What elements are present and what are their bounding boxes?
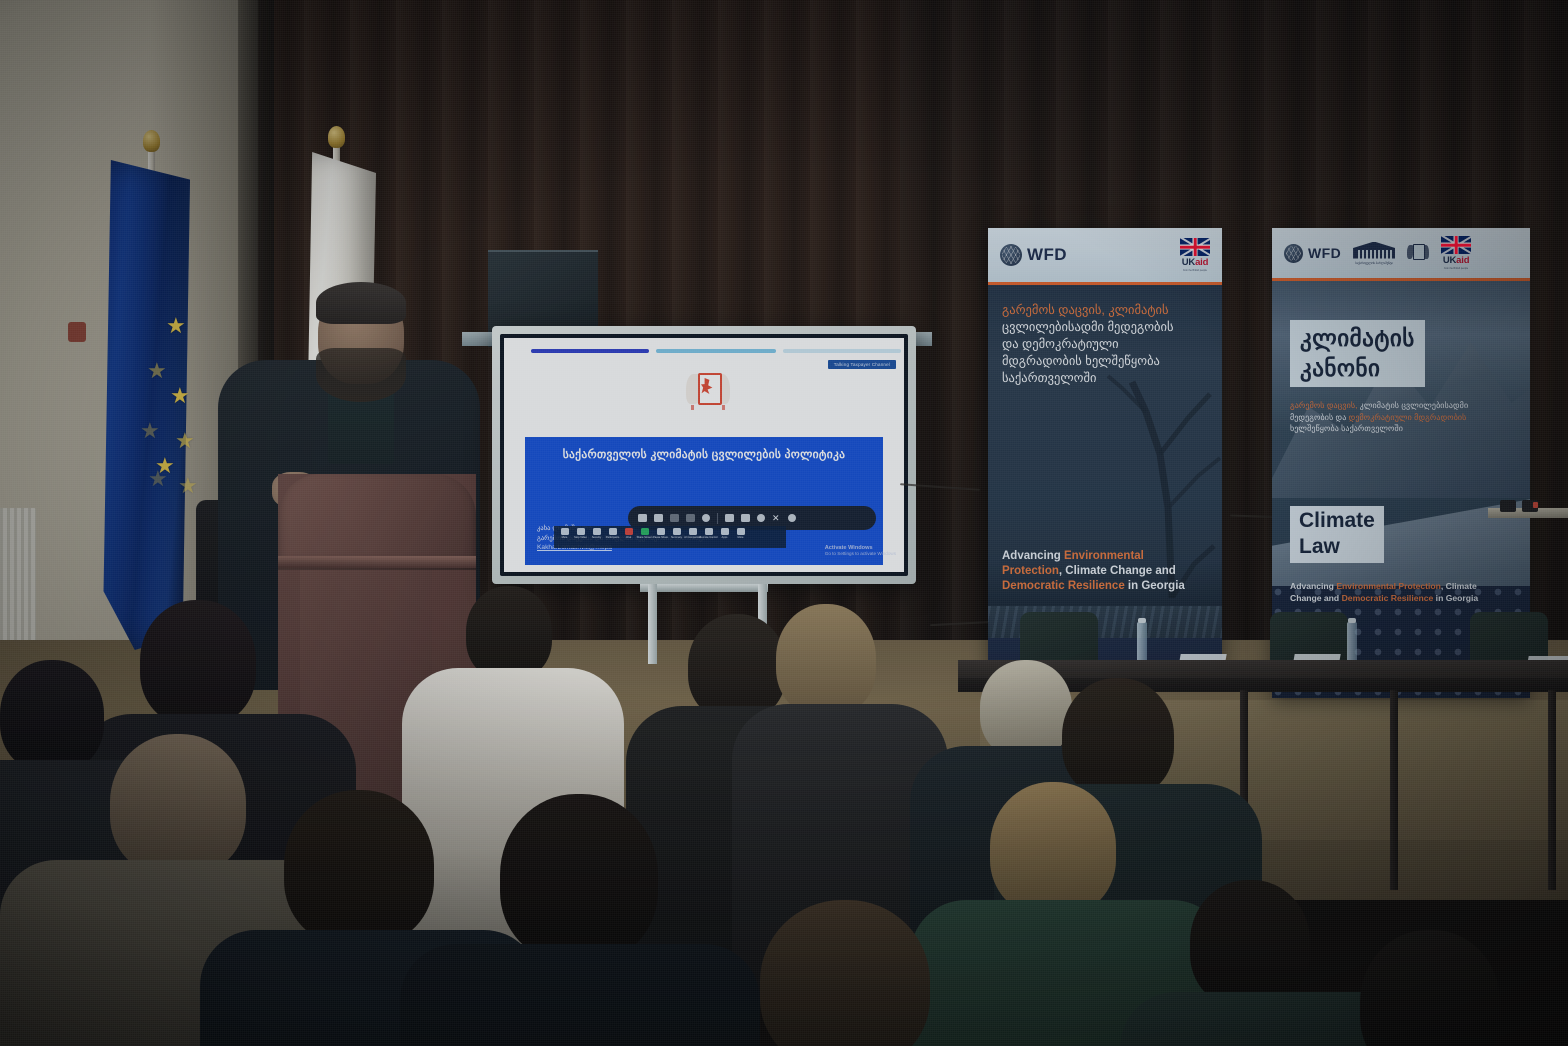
banner-logo-strip: WFD საქართველოს პარლამენტი UKaid from th… xyxy=(1272,228,1530,278)
audience-head xyxy=(1360,930,1500,1046)
conference-photo: ★ ★ ★ ★ ★ ★ ★ ★ Talking Taxpayer Channel xyxy=(0,0,1568,1046)
audience-head xyxy=(1190,880,1310,1008)
display-stand-leg xyxy=(648,584,657,664)
wfd-globe-icon xyxy=(1284,244,1303,263)
pause-share-button[interactable]: Pause Share xyxy=(655,528,666,542)
more-icon[interactable] xyxy=(788,514,796,522)
water-bottle xyxy=(1347,622,1357,664)
ukaid-logo-text: UKaid xyxy=(1443,255,1469,266)
audience-head xyxy=(110,734,246,876)
audience-head xyxy=(500,794,658,962)
share-screen-icon[interactable] xyxy=(638,514,647,522)
ai-companion-button[interactable]: AI Companion xyxy=(687,528,698,542)
banner-headline-english: Advancing Environmental Protection, Clim… xyxy=(1002,549,1202,594)
close-icon[interactable]: ✕ xyxy=(772,514,781,522)
progress-bar-step-1 xyxy=(531,349,649,353)
flag-finial-georgia xyxy=(328,126,345,148)
ukaid-logo: UKaid from the British people xyxy=(1180,238,1210,272)
banner-subtitle-english: Advancing Environmental Protection, Clim… xyxy=(1290,580,1510,604)
ukaid-subtext: from the British people xyxy=(1183,269,1207,272)
slide-title: საქართველოს კლიმატის ცვლილების პოლიტიკა xyxy=(525,447,883,461)
equipment-indicator-light xyxy=(1533,502,1538,508)
wfd-logo: WFD xyxy=(1284,244,1341,263)
eu-star: ★ xyxy=(155,455,175,477)
wfd-logo-text: WFD xyxy=(1308,245,1341,261)
audience-head xyxy=(466,586,552,680)
remote-control-button[interactable]: Remote Control xyxy=(703,528,714,542)
presentation-slide: Talking Taxpayer Channel საქართველოს კლი… xyxy=(504,338,904,572)
eu-star: ★ xyxy=(140,420,160,442)
union-jack-icon xyxy=(1180,238,1210,256)
ukaid-subtext: from the British people xyxy=(1444,267,1468,270)
undo-icon[interactable] xyxy=(670,514,679,522)
parliament-of-georgia-logo: საქართველოს პარლამენტი xyxy=(1353,242,1395,265)
meeting-controls-bar[interactable]: Mute Stop Video Security Participants Ch… xyxy=(554,526,786,548)
redo-icon[interactable] xyxy=(686,514,695,522)
banner-headline-georgian: გარემოს დაცვის, კლიმატის ცვლილებისადმი მ… xyxy=(1002,302,1208,387)
apps-button[interactable]: Apps xyxy=(719,528,730,542)
progress-bar-step-2 xyxy=(656,349,776,353)
eu-star: ★ xyxy=(178,475,198,497)
wfd-logo: WFD xyxy=(1000,244,1067,266)
banner-title-english: Climate Law xyxy=(1290,506,1384,563)
title-line-1: Climate xyxy=(1299,508,1375,534)
audience-head xyxy=(980,660,1072,758)
banner-title-georgian: კლიმატის კანონი xyxy=(1290,320,1425,387)
participants-button[interactable]: Participants xyxy=(607,528,618,542)
whiteboard-icon[interactable] xyxy=(654,514,663,522)
side-table-equipment xyxy=(1500,500,1516,512)
pointer-icon[interactable] xyxy=(702,514,710,522)
summary-button[interactable]: Summary xyxy=(671,528,682,542)
speaker-hair xyxy=(316,282,406,324)
coa-shield xyxy=(698,373,722,405)
ukaid-logo: UKaid from the British people xyxy=(1441,236,1471,270)
headline-line: საქართველოში xyxy=(1002,370,1208,387)
windows-activation-watermark: Activate Windows Go to Settings to activ… xyxy=(825,545,896,556)
headline-line: მდგრადობის ხელშეწყობა xyxy=(1002,353,1208,370)
radiator xyxy=(0,508,36,658)
wfd-logo-text: WFD xyxy=(1027,245,1067,265)
wfd-globe-icon xyxy=(1000,244,1022,266)
banner-logo-strip: WFD UKaid from the British people xyxy=(988,228,1222,282)
eu-star: ★ xyxy=(175,430,195,452)
settings-icon[interactable] xyxy=(757,514,765,522)
eu-star: ★ xyxy=(147,360,167,382)
headline-line: გარემოს დაცვის, კლიმატის xyxy=(1002,302,1208,319)
banner-wfd-project: WFD UKaid from the British people გარემო… xyxy=(988,228,1222,672)
audience-head xyxy=(1062,678,1174,798)
coa-foot xyxy=(691,405,694,410)
eu-star: ★ xyxy=(170,385,190,407)
more-button[interactable]: More xyxy=(735,528,746,542)
panel-table-leg xyxy=(1390,690,1398,890)
panel-table-leg xyxy=(1548,690,1556,890)
georgia-coat-of-arms-icon xyxy=(686,368,730,410)
slide-corner-badge: Talking Taxpayer Channel xyxy=(828,360,896,369)
title-line-1: კლიმატის xyxy=(1300,323,1415,353)
banner-accent-rule xyxy=(1272,278,1530,281)
activation-subtitle: Go to Settings to activate Windows xyxy=(825,551,896,556)
title-line-2: კანონი xyxy=(1300,353,1415,383)
new-page-icon[interactable] xyxy=(725,514,734,522)
toolbar-separator xyxy=(717,513,718,524)
water-bottle-cap xyxy=(1348,618,1356,623)
fire-alarm xyxy=(68,322,86,342)
parliament-caption: საქართველოს პარლამენტი xyxy=(1355,261,1393,265)
audience-head xyxy=(760,900,930,1046)
georgia-coat-of-arms-logo xyxy=(1407,241,1429,266)
flag-finial-eu xyxy=(143,130,160,152)
audience-head xyxy=(140,600,256,726)
banner-subtitle-georgian: გარემოს დაცვის, კლიმატის ცვლილებისადმი მ… xyxy=(1290,400,1506,435)
mute-button[interactable]: Mute xyxy=(559,528,570,542)
audience-head xyxy=(990,782,1116,916)
banner-accent-rule xyxy=(988,282,1222,285)
audience-head xyxy=(776,604,876,716)
podium-edge xyxy=(278,556,476,568)
security-button[interactable]: Security xyxy=(591,528,602,542)
water-bottle-cap xyxy=(1138,618,1146,623)
speaker-beard xyxy=(316,348,406,402)
audience-shoulders xyxy=(400,944,760,1046)
union-jack-icon xyxy=(1441,236,1471,254)
headline-line: ცვლილებისადმი მედეგობის xyxy=(1002,319,1208,336)
ukaid-logo-text: UKaid xyxy=(1182,257,1208,268)
share-screen-button[interactable]: Share Screen xyxy=(639,528,650,542)
save-icon[interactable] xyxy=(741,514,750,522)
audience-head xyxy=(688,614,786,720)
water-bottle xyxy=(1137,622,1147,664)
chat-button[interactable]: Chat xyxy=(623,528,634,542)
coa-foot xyxy=(722,405,725,410)
progress-bar-step-3 xyxy=(783,349,901,353)
audience-head xyxy=(0,660,104,772)
audience-head xyxy=(284,790,434,946)
title-line-2: Law xyxy=(1299,534,1375,560)
display-stand-bar xyxy=(640,584,768,592)
headline-line: და დემოკრატიული xyxy=(1002,336,1208,353)
parliament-building-icon xyxy=(1353,242,1395,259)
stop-video-button[interactable]: Stop Video xyxy=(575,528,586,542)
eu-star: ★ xyxy=(166,315,186,337)
